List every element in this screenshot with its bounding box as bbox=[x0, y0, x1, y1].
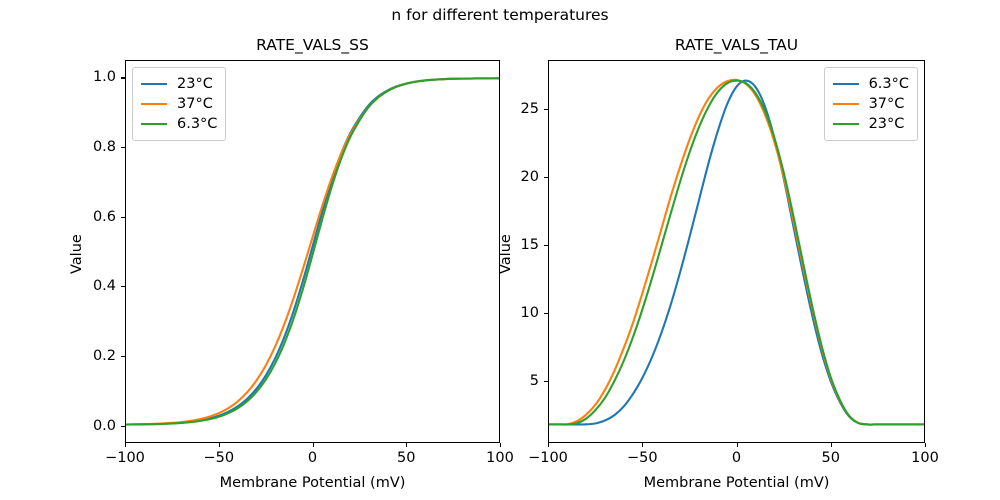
legend-color-swatch bbox=[141, 83, 167, 85]
x-tick-label: 100 bbox=[911, 450, 939, 466]
legend-tau[interactable]: 6.3°C37°C23°C bbox=[824, 67, 918, 141]
legend-label: 6.3°C bbox=[177, 116, 217, 132]
legend-label: 37°C bbox=[177, 96, 213, 112]
x-tick-label: 50 bbox=[822, 450, 840, 466]
y-tick-label: 15 bbox=[521, 237, 539, 253]
y-tick-mark bbox=[121, 286, 125, 287]
y-tick-mark bbox=[544, 381, 548, 382]
y-tick-label: 1.0 bbox=[93, 69, 116, 85]
x-tick-label: 0 bbox=[732, 450, 741, 466]
subplot-rate-vals-tau: RATE_VALS_TAU −100−50050100 510152025 Me… bbox=[548, 60, 925, 443]
y-tick-mark bbox=[121, 147, 125, 148]
legend-color-swatch bbox=[833, 103, 859, 105]
legend-color-swatch bbox=[833, 123, 859, 125]
legend-item[interactable]: 37°C bbox=[141, 94, 217, 114]
y-tick-mark bbox=[544, 313, 548, 314]
y-tick-mark bbox=[121, 217, 125, 218]
x-tick-mark bbox=[642, 443, 643, 447]
y-tick-label: 5 bbox=[530, 373, 539, 389]
x-tick-mark bbox=[125, 443, 126, 447]
legend-label: 6.3°C bbox=[869, 76, 909, 92]
x-tick-mark bbox=[925, 443, 926, 447]
y-tick-mark bbox=[121, 426, 125, 427]
legend-item[interactable]: 6.3°C bbox=[833, 74, 909, 94]
x-tick-label: −50 bbox=[203, 450, 234, 466]
legend-label: 23°C bbox=[869, 116, 905, 132]
x-tick-mark bbox=[737, 443, 738, 447]
y-tick-label: 25 bbox=[521, 101, 539, 117]
y-tick-mark bbox=[121, 77, 125, 78]
subplot-rate-vals-ss: RATE_VALS_SS −100−50050100 0.00.20.40.60… bbox=[125, 60, 500, 443]
legend-item[interactable]: 23°C bbox=[141, 74, 217, 94]
legend-label: 37°C bbox=[869, 96, 905, 112]
y-tick-label: 0.0 bbox=[93, 418, 116, 434]
y-tick-mark bbox=[544, 245, 548, 246]
x-tick-mark bbox=[500, 443, 501, 447]
x-tick-label: 0 bbox=[308, 450, 317, 466]
legend-color-swatch bbox=[833, 83, 859, 85]
legend-color-swatch bbox=[141, 103, 167, 105]
subplot-title-tau: RATE_VALS_TAU bbox=[548, 36, 925, 54]
legend-item[interactable]: 23°C bbox=[833, 114, 909, 134]
x-tick-label: −50 bbox=[627, 450, 658, 466]
x-tick-mark bbox=[831, 443, 832, 447]
x-tick-label: −100 bbox=[105, 450, 145, 466]
x-tick-mark bbox=[313, 443, 314, 447]
x-axis-label-tau: Membrane Potential (mV) bbox=[548, 475, 925, 491]
y-tick-mark bbox=[544, 109, 548, 110]
legend-item[interactable]: 37°C bbox=[833, 94, 909, 114]
legend-label: 23°C bbox=[177, 76, 213, 92]
y-tick-mark bbox=[544, 177, 548, 178]
y-tick-label: 0.8 bbox=[93, 139, 116, 155]
y-tick-label: 10 bbox=[521, 305, 539, 321]
legend-item[interactable]: 6.3°C bbox=[141, 114, 217, 134]
y-tick-label: 0.4 bbox=[93, 278, 116, 294]
figure-suptitle: n for different temperatures bbox=[0, 6, 1000, 24]
x-tick-label: −100 bbox=[528, 450, 568, 466]
x-tick-label: 100 bbox=[486, 450, 514, 466]
legend-ss[interactable]: 23°C37°C6.3°C bbox=[132, 67, 226, 141]
y-tick-label: 0.2 bbox=[93, 348, 116, 364]
x-axis-label-ss: Membrane Potential (mV) bbox=[125, 475, 500, 491]
y-tick-mark bbox=[121, 356, 125, 357]
x-tick-mark bbox=[406, 443, 407, 447]
y-axis-label-tau: Value bbox=[498, 234, 514, 274]
x-tick-mark bbox=[219, 443, 220, 447]
matplotlib-figure: n for different temperatures RATE_VALS_S… bbox=[0, 0, 1000, 500]
x-tick-mark bbox=[548, 443, 549, 447]
y-tick-label: 20 bbox=[521, 169, 539, 185]
legend-color-swatch bbox=[141, 123, 167, 125]
x-tick-label: 50 bbox=[397, 450, 415, 466]
y-axis-label-ss: Value bbox=[69, 234, 85, 274]
subplot-title-ss: RATE_VALS_SS bbox=[125, 36, 500, 54]
y-tick-label: 0.6 bbox=[93, 209, 116, 225]
